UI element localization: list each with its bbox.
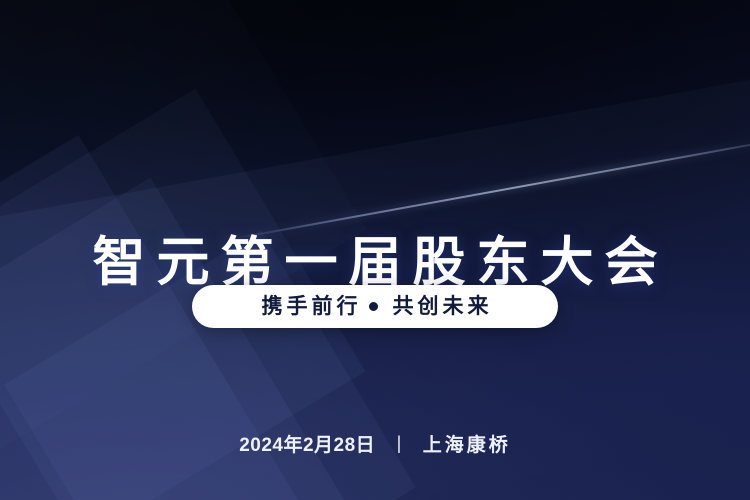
event-poster: 智元第一届股东大会 携手前行 共创未来 2024年2月28日 丨 上海康桥 (0, 0, 750, 500)
event-date: 2024年2月28日 (239, 435, 375, 456)
footer-separator-icon: 丨 (389, 434, 408, 458)
poster-footer: 2024年2月28日 丨 上海康桥 (0, 434, 750, 458)
slogan-right-text: 共创未来 (389, 296, 493, 317)
slogan-pill: 携手前行 共创未来 (192, 285, 558, 328)
slogan-left-text: 携手前行 (258, 296, 362, 317)
event-venue: 上海康桥 (423, 435, 511, 456)
poster-content: 智元第一届股东大会 携手前行 共创未来 2024年2月28日 丨 上海康桥 (0, 0, 750, 500)
bullet-dot-icon (369, 302, 378, 311)
